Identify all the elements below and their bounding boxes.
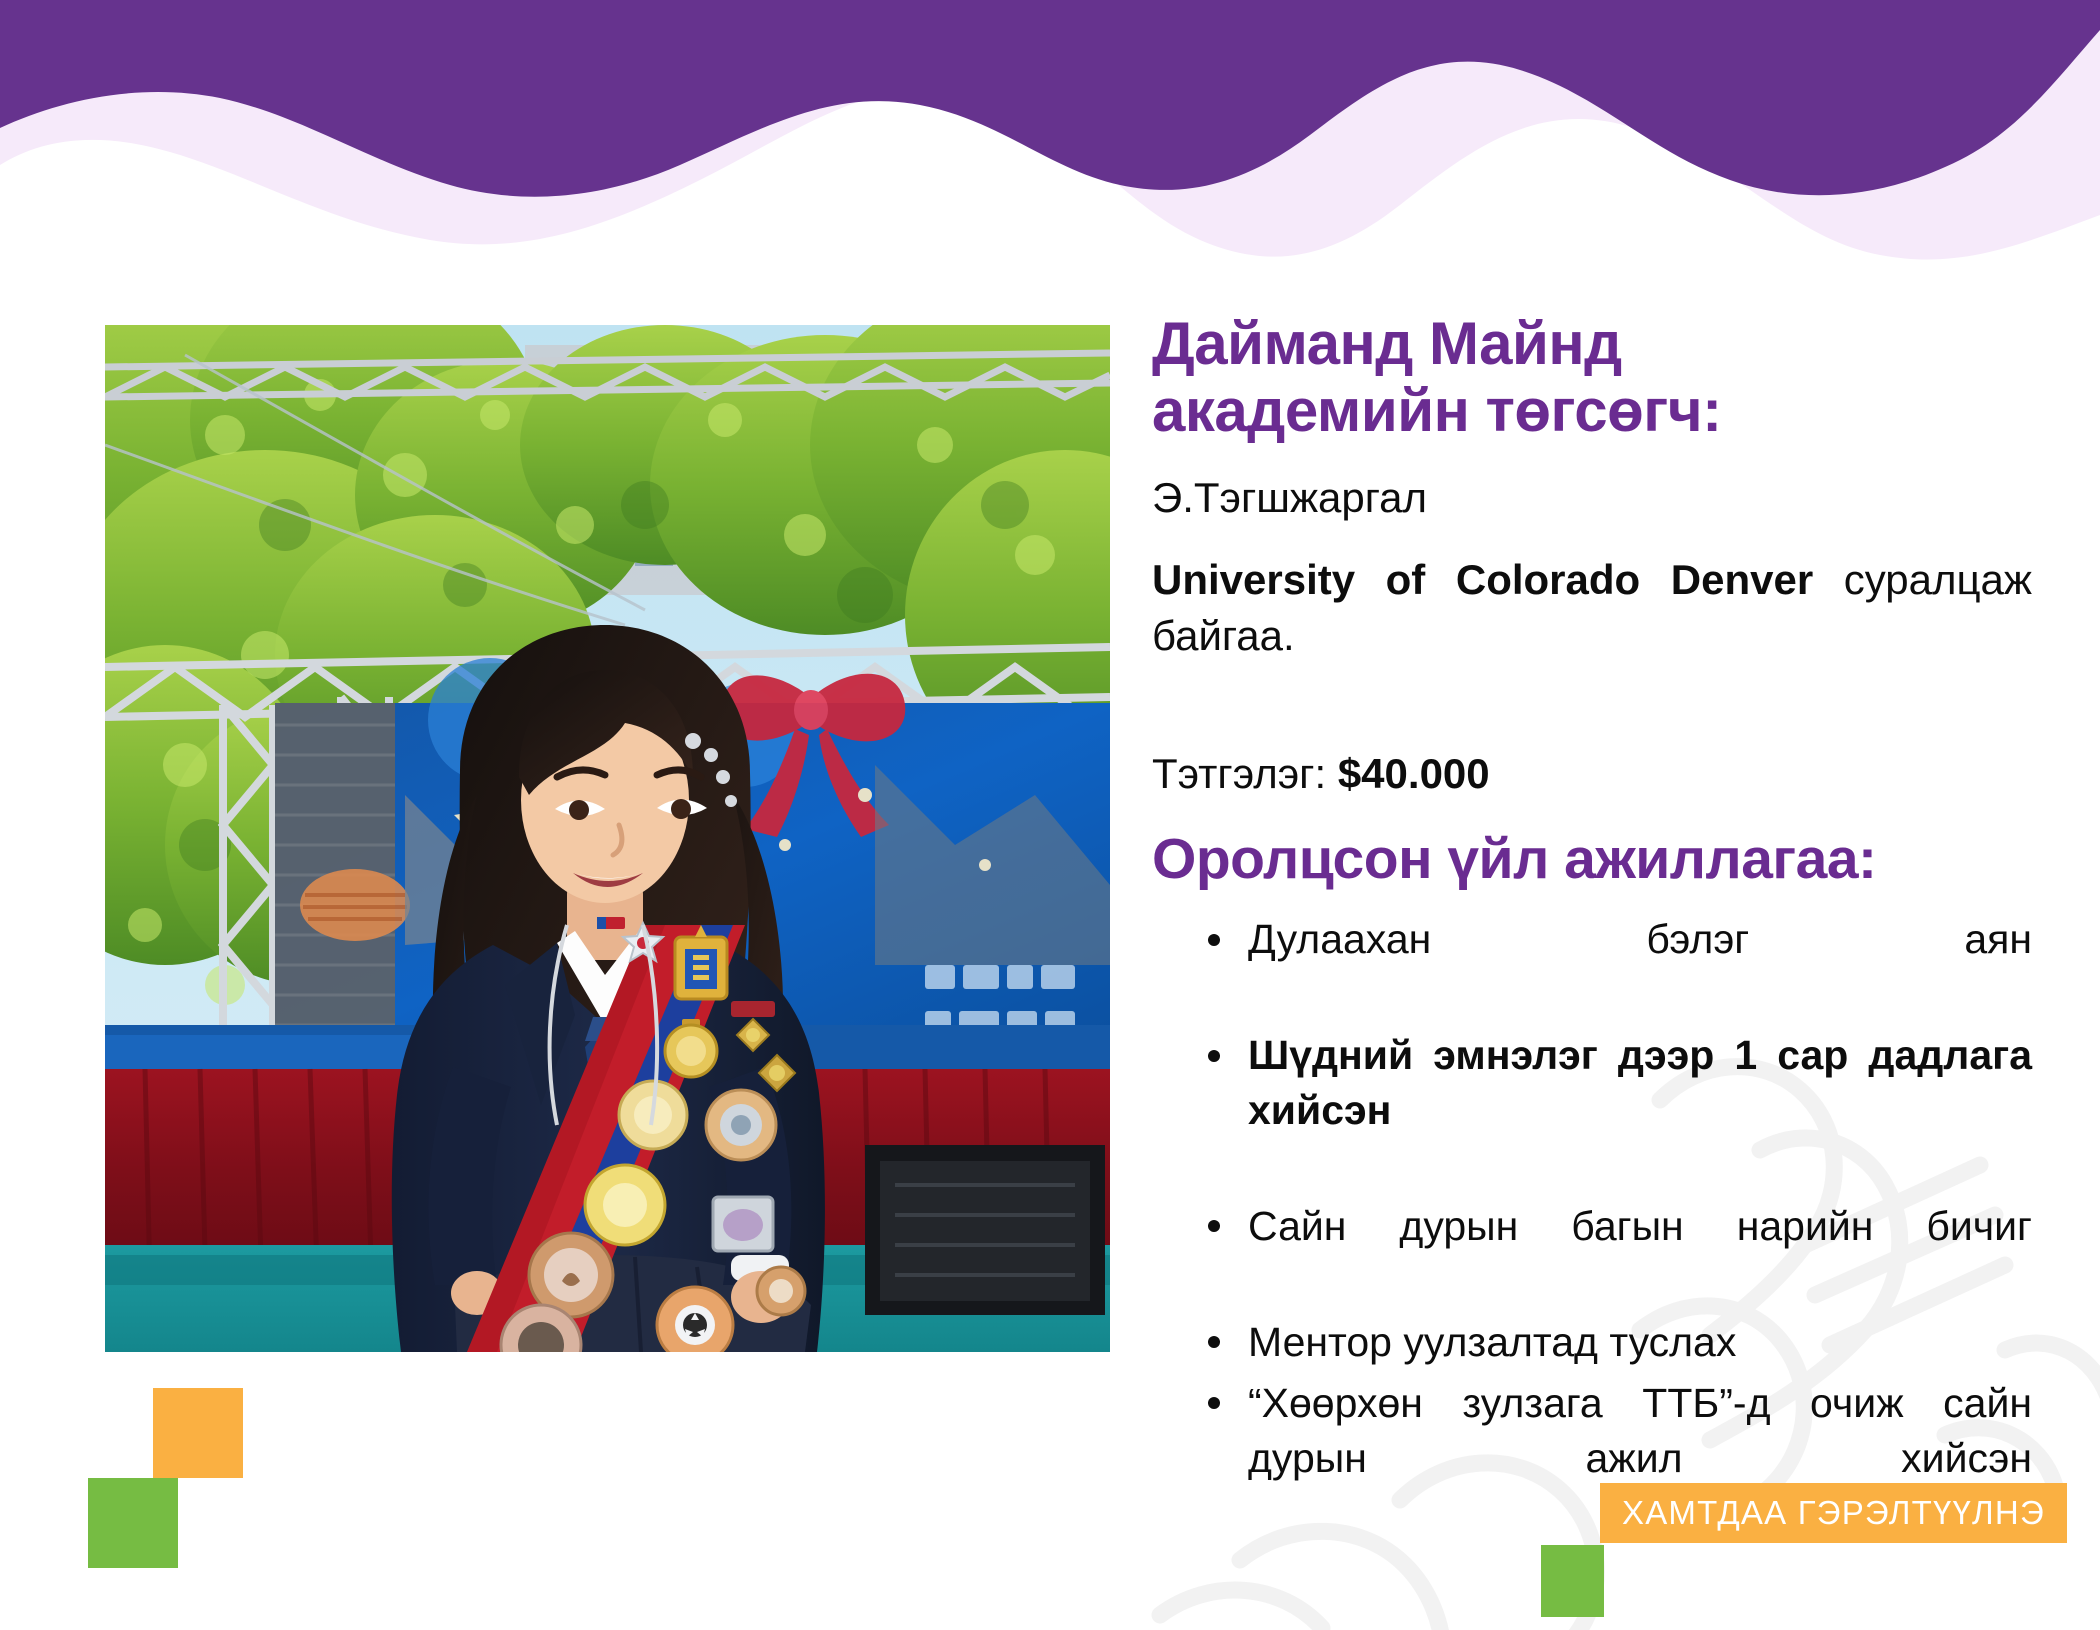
top-wave-decoration [0,0,2100,260]
bullet-dot-icon [1208,934,1220,946]
scholarship-amount: $40.000 [1338,750,1490,797]
bullet-dot-icon [1208,1397,1220,1409]
graduate-photo-illustration [105,325,1110,1352]
page-title: Дайманд Майнд академийн төгсөгч: [1152,310,2032,444]
student-name: Э.Тэгшжаргал [1152,470,2032,526]
bullet-dot-icon [1208,1050,1220,1062]
list-item: Ментор уулзалтад туслах [1208,1315,2032,1370]
list-item: Сайн дурын багын нарийн бичиг [1208,1199,2032,1309]
content-column: Дайманд Майнд академийн төгсөгч: Э.Тэгшж… [1152,310,2032,1547]
list-item: Дулаахан бэлэг аян [1208,912,2032,1022]
scholarship-label: Тэтгэлэг: [1152,750,1326,797]
footer-badge: ХАМТДАА ГЭРЭЛТҮҮЛНЭ [1600,1483,2067,1543]
page-title-line-2: академийн төгсөгч: [1152,377,1722,444]
list-item-label: Ментор уулзалтад туслах [1248,1319,1736,1365]
list-item-label: Дулаахан бэлэг аян [1248,916,2032,1017]
wave-purple-shape [0,0,2100,197]
university-name: University of Colorado Denver [1152,556,1813,603]
decorative-square-green [88,1478,178,1568]
activities-list: Дулаахан бэлэг аян Шүдний эмнэлэг дээр 1… [1152,912,2032,1540]
list-item-label: Шүдний эмнэлэг дээр 1 сар дадлага хийсэн [1248,1032,2032,1188]
badge-accent-square-green [1541,1545,1604,1617]
footer-badge-label: ХАМТДАА ГЭРЭЛТҮҮЛНЭ [1600,1483,2067,1543]
slide-root: Дайманд Майнд академийн төгсөгч: Э.Тэгшж… [0,0,2100,1630]
bullet-dot-icon [1208,1220,1220,1232]
graduate-photo [105,325,1110,1352]
page-title-line-1: Дайманд Майнд [1152,310,1622,377]
student-university: University of Colorado Denver суралцаж б… [1152,552,2032,720]
scholarship-line: Тэтгэлэг: $40.000 [1152,746,2032,802]
decorative-square-orange [153,1388,243,1478]
bullet-dot-icon [1208,1336,1220,1348]
activities-section-title: Оролцсон үйл ажиллагаа: [1152,828,2032,891]
wave-light-shape [0,0,2100,259]
list-item-label: Сайн дурын багын нарийн бичиг [1248,1203,2032,1304]
list-item: Шүдний эмнэлэг дээр 1 сар дадлага хийсэн [1208,1028,2032,1193]
